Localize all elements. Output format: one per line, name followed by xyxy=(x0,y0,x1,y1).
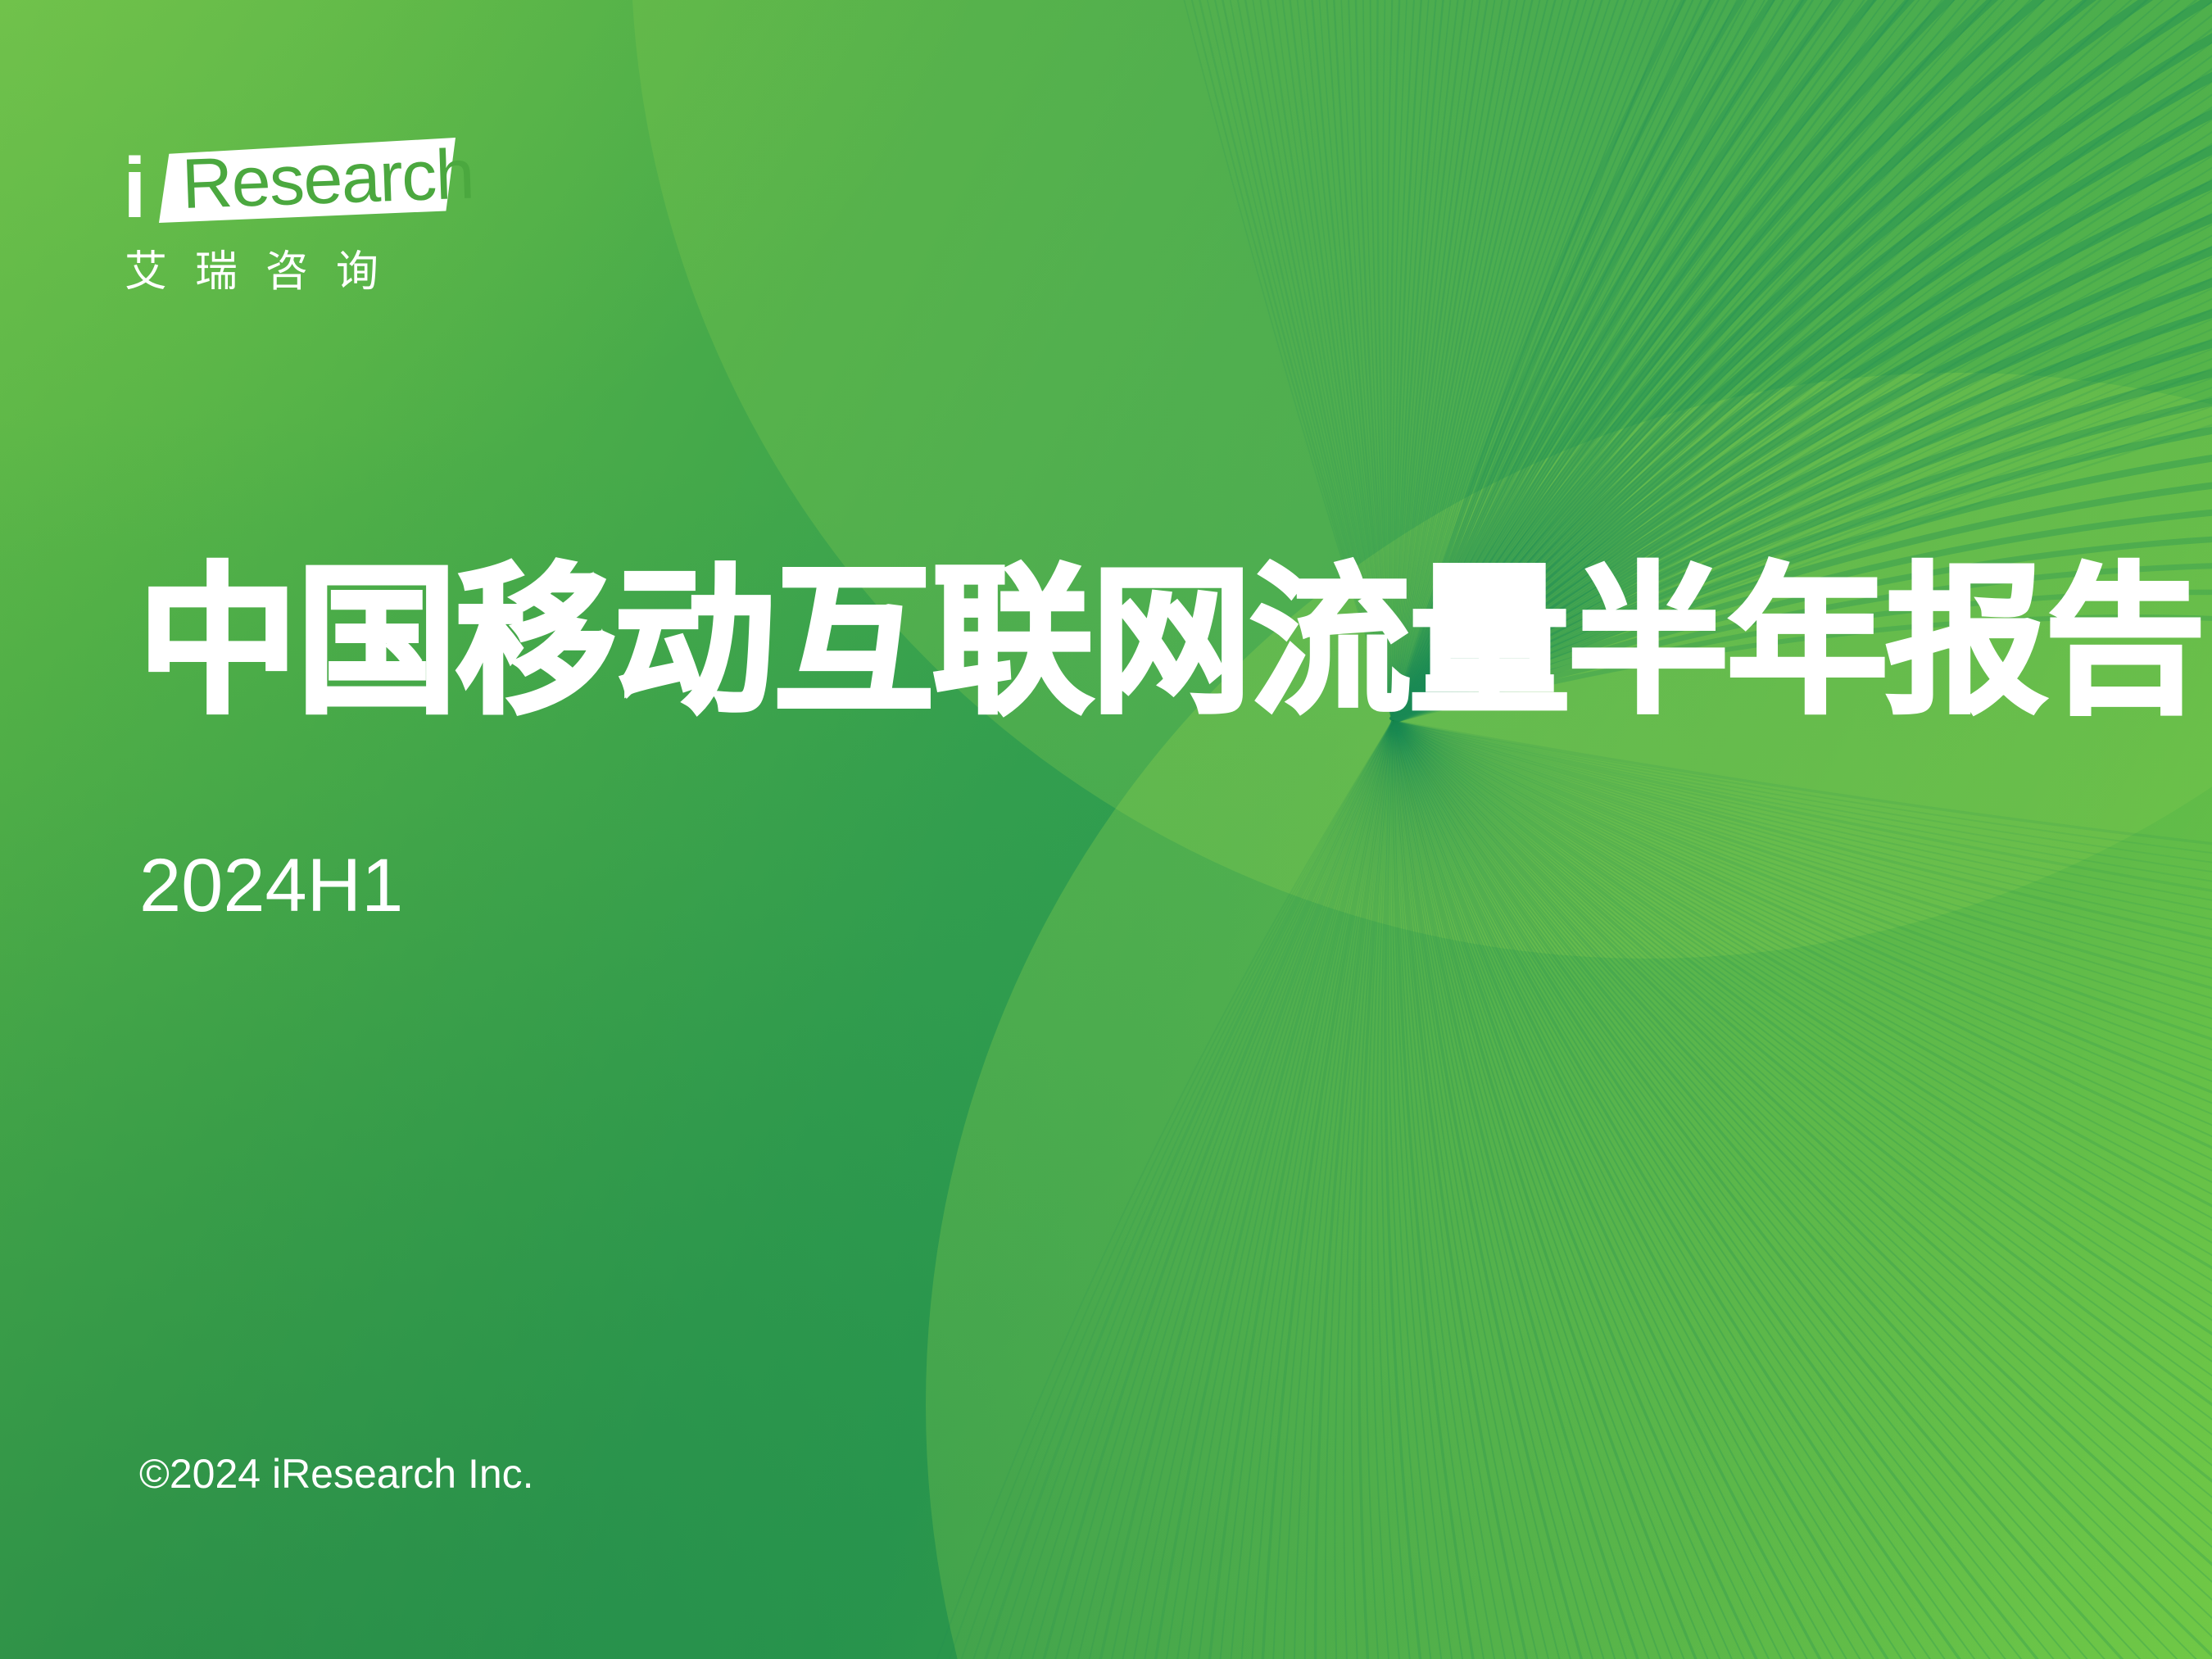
logo-chinese-name: 艾瑞咨询 xyxy=(125,251,406,293)
page-title: 中国移动互联网流量半年报告 xyxy=(138,562,2022,723)
logo-research-text: Research xyxy=(180,139,474,220)
logo-wordmark: i Research xyxy=(123,131,467,229)
copyright-notice: ©2024 iResearch Inc. xyxy=(139,1453,534,1494)
report-cover-slide: i Research 艾瑞咨询 中国移动互联网流量半年报告 2024H1 ©20… xyxy=(0,0,2212,1659)
logo-letter-i: i xyxy=(123,146,145,231)
report-period: 2024H1 xyxy=(139,848,403,923)
iresearch-logo: i Research 艾瑞咨询 xyxy=(123,131,483,311)
page-title-text: 中国移动互联网流量半年报告 xyxy=(138,562,2022,723)
